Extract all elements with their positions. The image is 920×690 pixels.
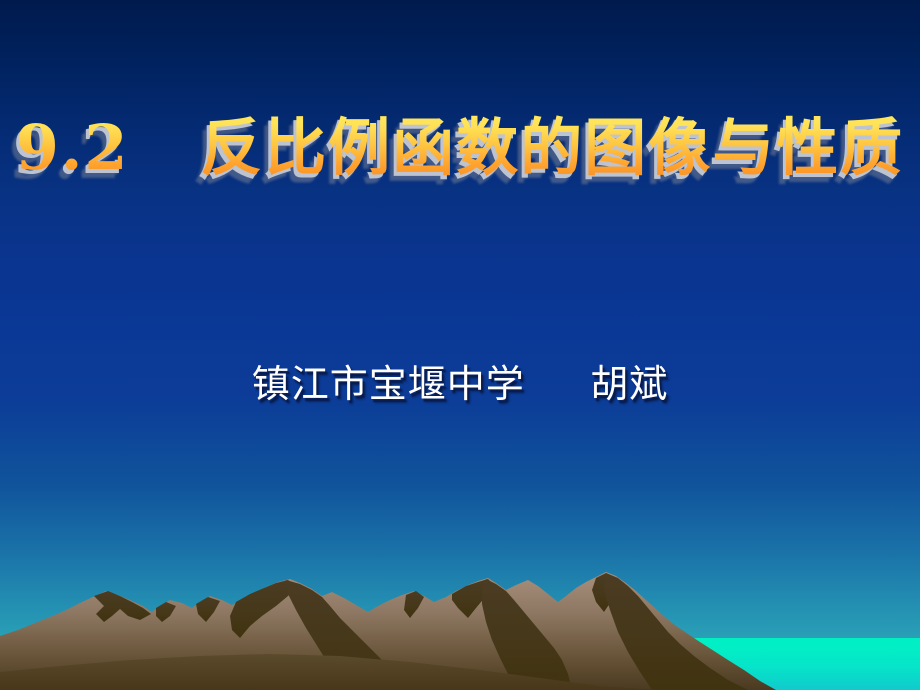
presentation-slide: 9.2 反比例函数的图像与性质 镇江市宝堰中学 胡斌: [0, 0, 920, 690]
mountain-range-silhouette: [0, 550, 920, 690]
